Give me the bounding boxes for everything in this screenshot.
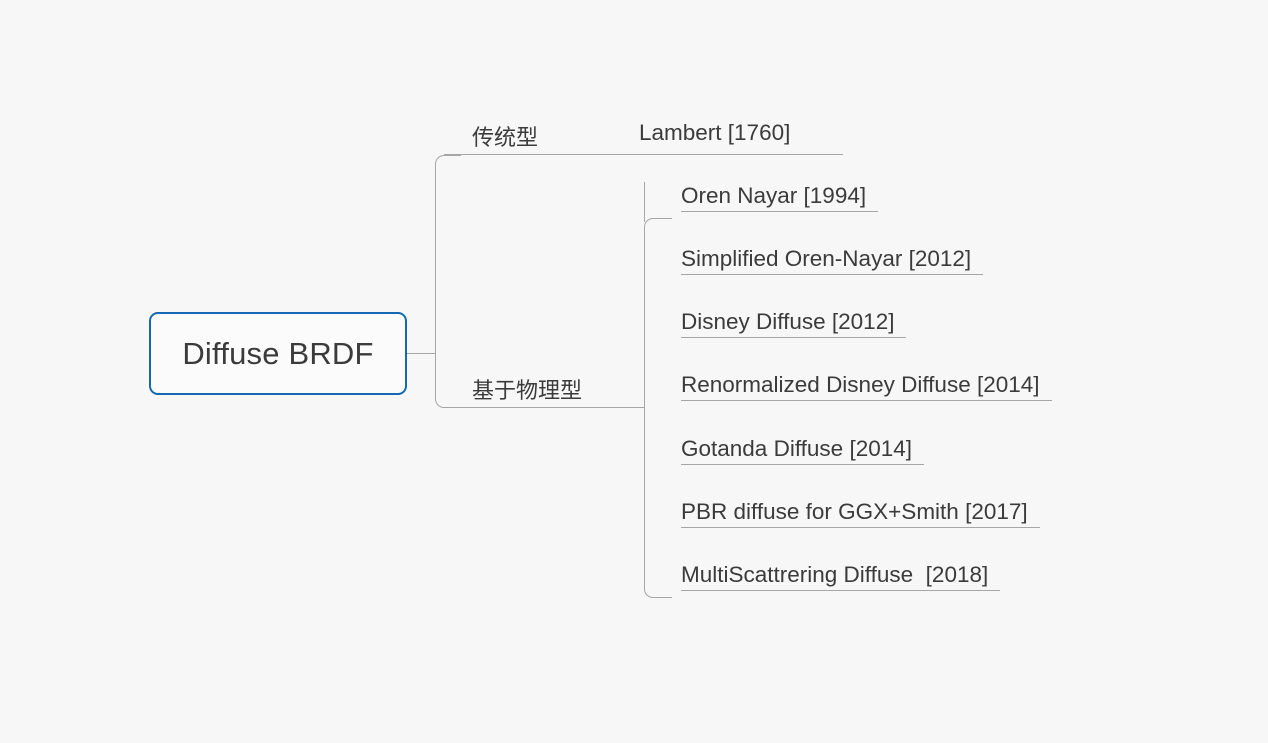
leaf-renormalized-disney-diffuse[interactable]: Renormalized Disney Diffuse [2014] <box>681 370 1052 401</box>
leaf-disney-diffuse[interactable]: Disney Diffuse [2012] <box>681 307 906 338</box>
leaf-oren-nayar-label: Oren Nayar [1994] <box>681 181 878 212</box>
level2-bracket <box>644 218 672 598</box>
leaf-pbr-diffuse-ggx-smith-label: PBR diffuse for GGX+Smith [2017] <box>681 497 1040 528</box>
leaf-gotanda-diffuse[interactable]: Gotanda Diffuse [2014] <box>681 434 924 465</box>
root-connector-stub <box>407 353 436 354</box>
leaf-disney-diffuse-label: Disney Diffuse [2012] <box>681 307 906 338</box>
leaf-oren-nayar[interactable]: Oren Nayar [1994] <box>681 181 878 212</box>
branch-label-physically-based[interactable]: 基于物理型 <box>472 373 582 405</box>
root-node-label: Diffuse BRDF <box>182 336 373 372</box>
level1-branch1-arm <box>444 154 843 155</box>
mindmap-canvas: Diffuse BRDF 传统型 基于物理型 Lambert [1760] Or… <box>0 0 1268 743</box>
branch-label-traditional-text: 传统型 <box>472 125 538 150</box>
leaf-lambert-label: Lambert [1760] <box>639 118 802 148</box>
leaf-lambert[interactable]: Lambert [1760] <box>639 118 802 148</box>
leaf-multiscattering-diffuse-label: MultiScattrering Diffuse [2018] <box>681 560 1000 591</box>
branch-label-traditional[interactable]: 传统型 <box>472 120 538 152</box>
leaf-gotanda-diffuse-label: Gotanda Diffuse [2014] <box>681 434 924 465</box>
level2-trunk-upper <box>644 182 645 222</box>
level1-branch2-arm <box>444 407 644 408</box>
branch-label-physically-based-text: 基于物理型 <box>472 378 582 403</box>
leaf-renormalized-disney-diffuse-label: Renormalized Disney Diffuse [2014] <box>681 370 1052 401</box>
leaf-pbr-diffuse-ggx-smith[interactable]: PBR diffuse for GGX+Smith [2017] <box>681 497 1040 528</box>
root-node[interactable]: Diffuse BRDF <box>149 312 407 395</box>
level1-bracket <box>435 155 461 408</box>
leaf-multiscattering-diffuse[interactable]: MultiScattrering Diffuse [2018] <box>681 560 1000 591</box>
leaf-simplified-oren-nayar-label: Simplified Oren-Nayar [2012] <box>681 244 983 275</box>
leaf-simplified-oren-nayar[interactable]: Simplified Oren-Nayar [2012] <box>681 244 983 275</box>
